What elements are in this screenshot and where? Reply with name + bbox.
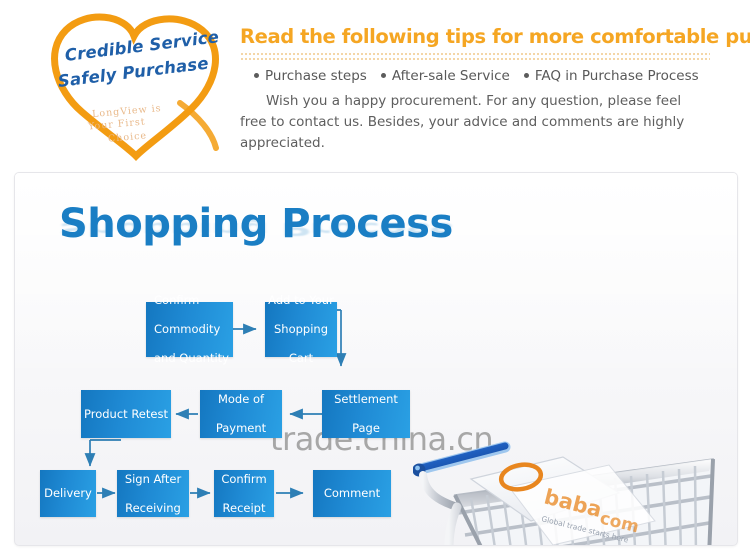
node-delivery[interactable]: Delivery <box>40 470 96 517</box>
node-confirm-commodity-line2: Commodity <box>154 322 233 337</box>
bullet-item-after-sale-service: After-sale Service <box>381 68 510 84</box>
bullet-label-2: After-sale Service <box>392 68 510 84</box>
node-payment-line1: Mode of <box>200 392 282 407</box>
node-product-retest[interactable]: Product Retest <box>81 390 171 438</box>
node-add-to-cart-line1: Add to Your <box>265 293 337 308</box>
node-confirm-receipt[interactable]: Confirm Receipt <box>214 470 274 517</box>
node-mode-of-payment[interactable]: Mode of Payment <box>200 390 282 438</box>
panel-title: Shopping Process <box>59 201 453 247</box>
node-receipt-line1: Confirm <box>214 472 274 487</box>
shopping-process-infographic: Credible Service Safely Purchase LongVie… <box>0 0 750 558</box>
bullet-dot-icon <box>524 73 529 78</box>
bullet-dot-icon <box>381 73 386 78</box>
svg-text:Global trade starts here: Global trade starts here <box>541 514 630 544</box>
header-title: Read the following tips for more comfort… <box>240 26 710 48</box>
node-comment[interactable]: Comment <box>313 470 391 517</box>
node-add-to-cart[interactable]: Add to Your Shopping Cart <box>265 302 337 357</box>
node-settlement-line1: Settlement <box>322 392 410 407</box>
bullet-dot-icon <box>254 73 259 78</box>
bullet-label-1: Purchase steps <box>265 68 367 84</box>
header-area: Credible Service Safely Purchase LongVie… <box>0 0 750 172</box>
bullet-item-purchase-steps: Purchase steps <box>254 68 367 84</box>
node-confirm-commodity-line3: and Quantity <box>154 351 233 366</box>
cart-arm <box>423 475 457 507</box>
node-product-retest-label: Product Retest <box>81 407 171 422</box>
bullet-item-faq: FAQ in Purchase Process <box>524 68 699 84</box>
svg-text:com: com <box>598 508 641 537</box>
bullet-label-3: FAQ in Purchase Process <box>535 68 699 84</box>
header-text-block: Read the following tips for more comfort… <box>240 26 710 154</box>
node-delivery-label: Delivery <box>40 486 96 501</box>
node-add-to-cart-line3: Cart <box>265 351 337 366</box>
cart-basket <box>455 459 713 546</box>
cart-contents-papers: baba com Global trade starts here <box>471 457 655 545</box>
node-add-to-cart-line2: Shopping <box>265 322 337 337</box>
header-paragraph: Wish you a happy procurement. For any qu… <box>240 91 692 154</box>
node-settlement-page[interactable]: Settlement Page <box>322 390 410 438</box>
credible-service-logo: Credible Service Safely Purchase LongVie… <box>30 8 240 166</box>
node-sign-line1: Sign After <box>117 472 189 487</box>
node-sign-after-receiving[interactable]: Sign After Receiving <box>117 470 189 517</box>
node-sign-line2: Receiving <box>117 501 189 516</box>
node-confirm-commodity-line1: Confirm <box>154 293 233 308</box>
node-receipt-line2: Receipt <box>214 501 274 516</box>
node-payment-line2: Payment <box>200 421 282 436</box>
dotted-divider-top <box>240 51 710 55</box>
dotted-divider-bottom <box>240 56 710 60</box>
node-confirm-commodity[interactable]: Confirm Commodity and Quantity <box>146 302 233 357</box>
header-bullet-list: Purchase stepsAfter-sale ServiceFAQ in P… <box>240 68 710 84</box>
svg-text:baba: baba <box>542 485 604 522</box>
cart-frame <box>449 507 713 546</box>
node-comment-label: Comment <box>313 486 391 501</box>
node-settlement-line2: Page <box>322 421 410 436</box>
